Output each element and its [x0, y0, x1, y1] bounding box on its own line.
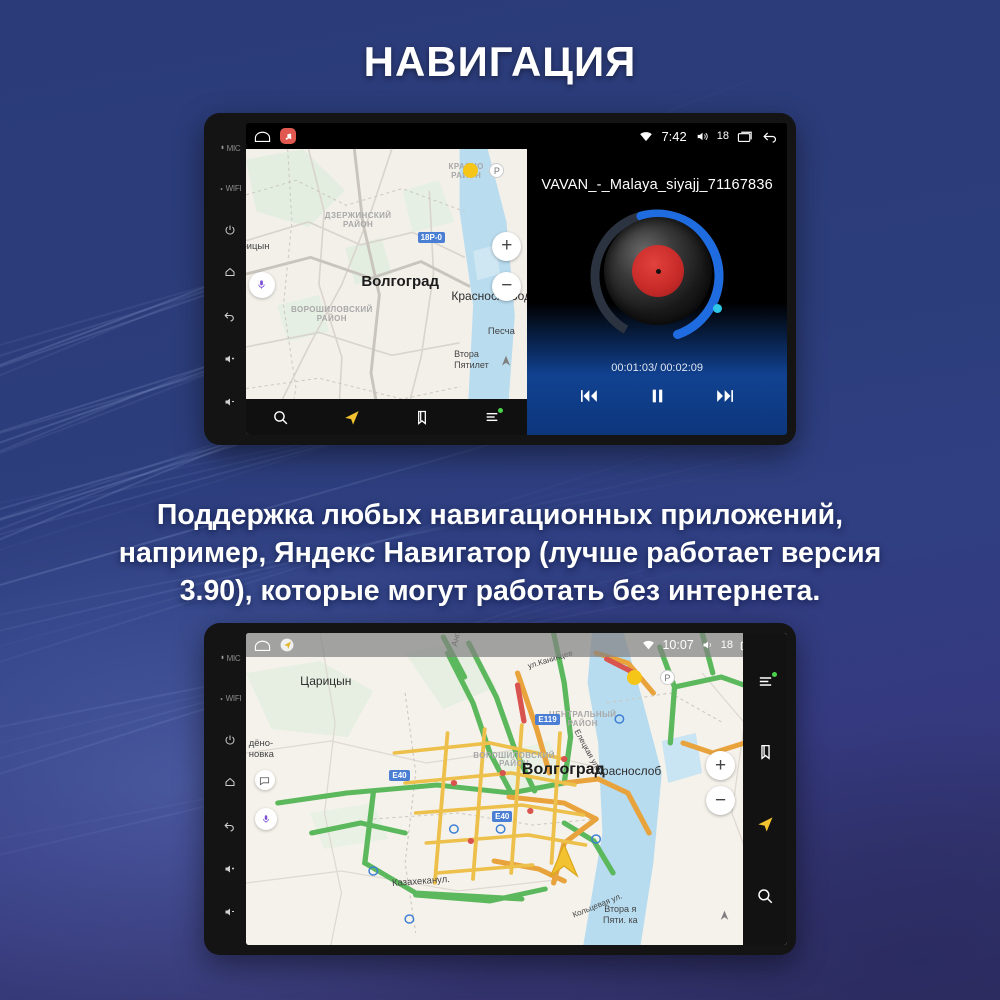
page-caption: Поддержка любых навигационных приложений… — [70, 497, 930, 611]
recent-apps-icon[interactable] — [737, 130, 754, 143]
wifi-button-label: WIFI — [226, 184, 242, 193]
bookmark-icon[interactable] — [414, 409, 430, 426]
volume-up-button[interactable] — [224, 353, 236, 365]
menu-notification-dot — [498, 408, 503, 413]
music-player-pane[interactable]: VAVAN_-_Malaya_siyajj_71167836 00:01:03/… — [527, 149, 787, 435]
navigator-app-icon[interactable] — [280, 638, 294, 652]
home-button[interactable] — [224, 776, 236, 788]
next-track-icon[interactable] — [713, 386, 738, 411]
bookmark-icon[interactable] — [757, 743, 774, 761]
previous-track-icon[interactable] — [576, 386, 601, 411]
playback-controls — [527, 385, 787, 412]
map-label-edenovka: дёно-новка — [249, 739, 274, 761]
wifi-icon — [642, 640, 655, 650]
android-status-bar: 10:07 18 — [246, 633, 787, 657]
back-button[interactable] — [223, 819, 236, 832]
home-button[interactable] — [224, 266, 236, 278]
road-badge-e40-east: E40 — [492, 811, 512, 822]
search-icon[interactable] — [756, 887, 774, 905]
zoom-controls: + − — [706, 751, 735, 815]
mic-button-label: MIC — [227, 654, 241, 663]
music-app-icon[interactable] — [280, 128, 296, 144]
volume-level: 18 — [717, 130, 729, 142]
menu-notification-dot — [772, 672, 777, 677]
vinyl-record — [604, 217, 712, 325]
caption-line-3: 3.90), которые могут работать без интерн… — [70, 573, 930, 611]
track-title: VAVAN_-_Malaya_siyajj_71167836 — [527, 177, 787, 193]
voice-search-icon[interactable] — [255, 808, 277, 830]
zoom-in-button[interactable]: + — [706, 751, 735, 780]
android-status-bar: 7:42 18 — [246, 123, 787, 149]
device-bezel-left: MIC WIFI — [213, 633, 246, 945]
map-label-vtoraya: ВтораПятилет — [454, 349, 489, 370]
compass-icon[interactable] — [499, 353, 513, 369]
volume-up-button[interactable] — [224, 863, 236, 875]
road-badge-e119: E119 — [535, 714, 559, 725]
map-town-label: Краснослоб — [595, 764, 661, 778]
head-unit-device-top: MIC WIFI 7:42 18 — [204, 113, 796, 445]
page-title: НАВИГАЦИЯ — [0, 38, 1000, 86]
road-badge: 18Р-0 — [418, 232, 445, 243]
navigate-arrow-icon[interactable] — [342, 408, 361, 427]
map-city-label: Волгоград — [361, 273, 439, 290]
home-outline-icon[interactable] — [254, 639, 271, 652]
back-button[interactable] — [223, 309, 236, 322]
wifi-button[interactable]: WIFI — [218, 694, 242, 703]
device-bezel-left: MIC WIFI — [213, 123, 246, 435]
volume-down-button[interactable] — [224, 396, 236, 408]
map-label-tsaritsyn: Царицын — [300, 674, 351, 688]
volume-level: 18 — [721, 639, 733, 651]
map-label-vtoraya: Втора яПяти. ка — [603, 904, 638, 926]
status-time: 10:07 — [662, 638, 693, 652]
navigate-arrow-icon[interactable] — [755, 814, 775, 834]
map-city-label: Волгоград — [522, 761, 605, 779]
map-side-toolbar — [743, 633, 787, 945]
traffic-map-pane[interactable]: 10:07 18 Царицын дёно-новка Казахеканул.… — [246, 633, 787, 945]
map-district-dzerzhinsky: ДЗЕРЖИНСКИЙРАЙОН — [325, 212, 392, 230]
progress-knob[interactable] — [713, 304, 722, 313]
head-unit-screen-bottom: 10:07 18 Царицын дёно-новка Казахеканул.… — [246, 633, 787, 945]
menu-icon[interactable] — [483, 409, 501, 425]
map-district-voroshilovsky: ВОРОШИЛОВСКИЙРАЙОН — [291, 306, 373, 324]
home-outline-icon[interactable] — [254, 130, 271, 143]
album-art-vinyl — [586, 205, 728, 347]
head-unit-screen-top: 7:42 18 — [246, 123, 787, 435]
map-label-peschan: Песча — [488, 326, 515, 337]
volume-icon — [701, 639, 714, 651]
road-badge-e40-west: E40 — [389, 770, 409, 781]
zoom-out-button[interactable]: − — [706, 786, 735, 815]
power-button[interactable] — [224, 224, 236, 236]
poi-marker[interactable] — [463, 163, 478, 178]
wifi-button-label: WIFI — [226, 694, 242, 703]
map-bottom-toolbar — [246, 399, 527, 435]
status-time: 7:42 — [661, 129, 686, 144]
mic-button-label: MIC — [227, 144, 241, 153]
menu-icon[interactable] — [756, 673, 775, 690]
caption-line-2: например, Яндекс Навигатор (лучше работа… — [70, 535, 930, 573]
head-unit-device-bottom: MIC WIFI — [204, 623, 796, 955]
back-arrow-icon[interactable] — [762, 130, 779, 143]
map-pane[interactable]: ДЗЕРЖИНСКИЙРАЙОН КРАСНОРАЙОН ВОРОШИЛОВСК… — [246, 149, 527, 435]
pause-icon[interactable] — [648, 385, 667, 412]
playback-time: 00:01:03/ 00:02:09 — [527, 362, 787, 374]
voice-search-icon[interactable] — [249, 272, 275, 298]
wifi-icon — [639, 131, 653, 142]
caption-line-1: Поддержка любых навигационных приложений… — [70, 497, 930, 535]
map-label-tsaritsyn: рицын — [246, 241, 270, 252]
current-position-arrow — [544, 839, 584, 883]
volume-down-button[interactable] — [224, 906, 236, 918]
mic-button[interactable]: MIC — [219, 654, 241, 663]
power-button[interactable] — [224, 734, 236, 746]
volume-icon — [695, 130, 709, 143]
search-icon[interactable] — [272, 409, 289, 426]
chat-bubble-icon[interactable] — [255, 770, 275, 790]
wifi-button[interactable]: WIFI — [218, 184, 242, 193]
mic-button[interactable]: MIC — [219, 144, 241, 153]
compass-icon[interactable] — [718, 908, 731, 923]
